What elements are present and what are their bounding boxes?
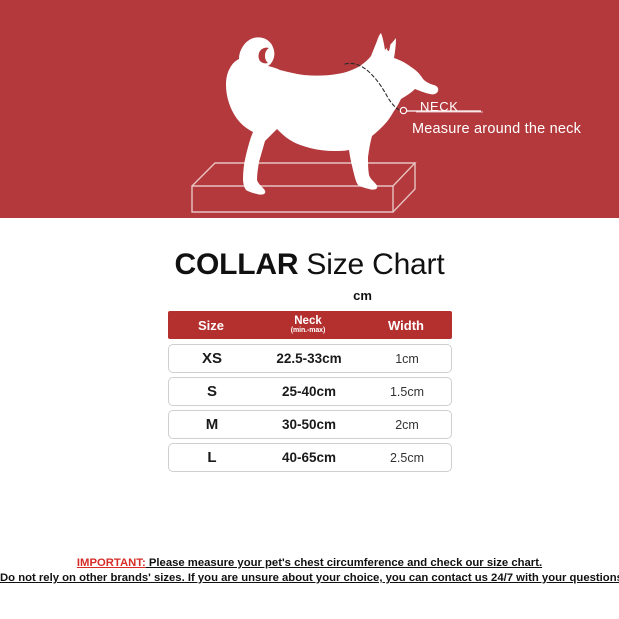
cell-size: XS xyxy=(169,350,255,367)
cell-size: M xyxy=(169,416,255,433)
cell-size: L xyxy=(169,449,255,466)
platform-box-icon xyxy=(192,163,415,212)
neck-instruction-text: Measure around the neck xyxy=(412,121,581,137)
table-header-row: Size Neck (min.-max) Width xyxy=(168,311,452,339)
column-header-size: Size xyxy=(168,318,254,333)
dog-silhouette-icon xyxy=(226,33,438,195)
cell-neck: 25-40cm xyxy=(255,384,363,399)
cell-width: 1cm xyxy=(363,352,451,366)
table-row[interactable]: S 25-40cm 1.5cm xyxy=(168,377,452,406)
title-strong: COLLAR xyxy=(175,248,299,281)
cell-width: 2cm xyxy=(363,418,451,432)
page-title: COLLAR Size Chart xyxy=(0,248,619,282)
size-chart-table: Size Neck (min.-max) Width XS 22.5-33cm … xyxy=(168,311,452,476)
footer-line-1-text: Please measure your pet's chest circumfe… xyxy=(146,557,542,569)
table-row[interactable]: M 30-50cm 2cm xyxy=(168,410,452,439)
cell-width: 2.5cm xyxy=(363,451,451,465)
hero-banner: NECK Measure around the neck xyxy=(0,0,619,218)
footer-line-2: Do not rely on other brands' sizes. If y… xyxy=(0,571,619,586)
footer-line-1: IMPORTANT: Please measure your pet's che… xyxy=(0,556,619,571)
dog-measurement-illustration xyxy=(0,0,619,218)
neck-label: NECK xyxy=(420,99,459,114)
table-row[interactable]: L 40-65cm 2.5cm xyxy=(168,443,452,472)
cell-neck: 40-65cm xyxy=(255,450,363,465)
cell-neck: 30-50cm xyxy=(255,417,363,432)
column-header-neck-label: Neck xyxy=(254,315,362,327)
footer-note: IMPORTANT: Please measure your pet's che… xyxy=(0,556,619,586)
column-header-neck-sublabel: (min.-max) xyxy=(254,327,362,334)
title-light: Size Chart xyxy=(298,248,444,281)
table-row[interactable]: XS 22.5-33cm 1cm xyxy=(168,344,452,373)
footer-important-label: IMPORTANT: xyxy=(77,557,146,569)
unit-label: cm xyxy=(0,288,619,303)
cell-width: 1.5cm xyxy=(363,385,451,399)
cell-neck: 22.5-33cm xyxy=(255,351,363,366)
column-header-neck: Neck (min.-max) xyxy=(254,315,362,334)
column-header-width: Width xyxy=(362,318,450,333)
cell-size: S xyxy=(169,383,255,400)
